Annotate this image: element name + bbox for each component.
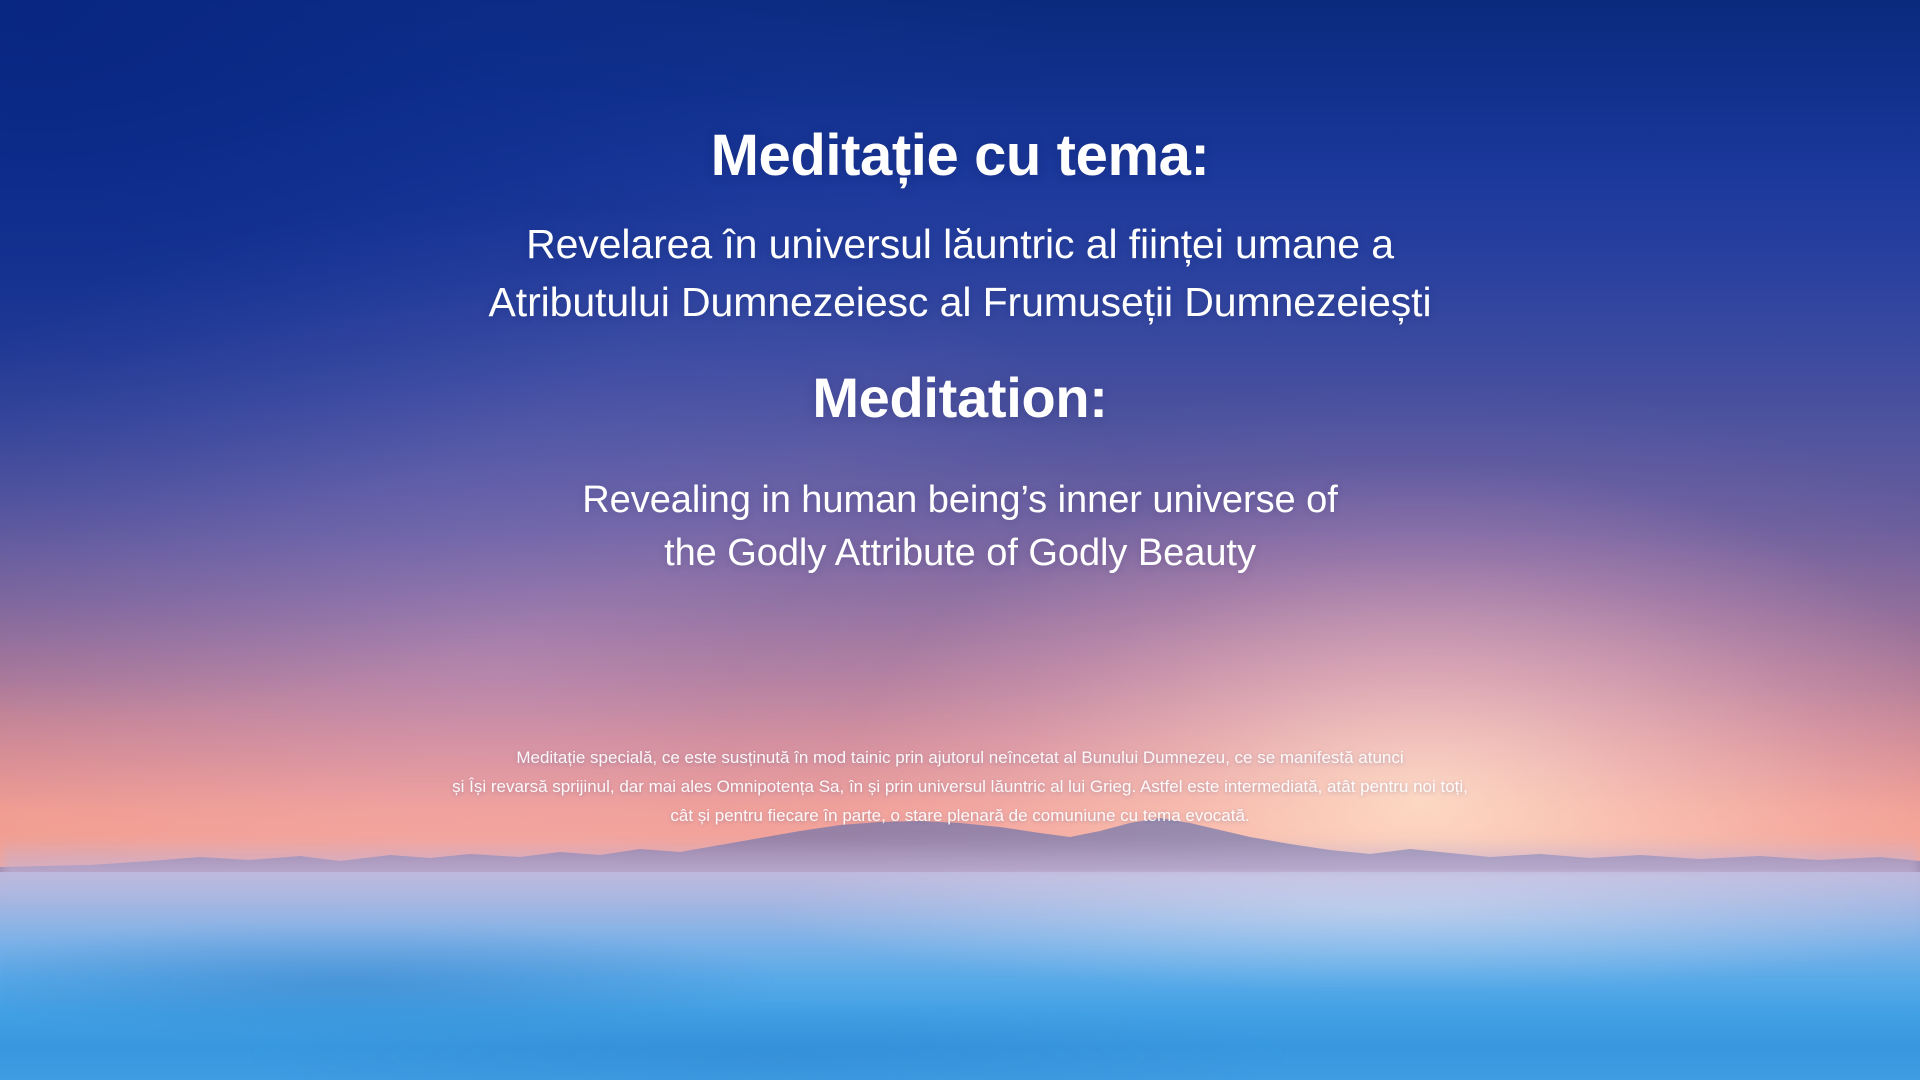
- footer-caption-line-3: cât și pentru fiecare în parte, o stare …: [370, 802, 1550, 831]
- english-title: Meditation:: [0, 368, 1920, 428]
- romanian-title: Meditație cu tema:: [0, 125, 1920, 188]
- footer-caption-line-1: Meditație specială, ce este susținută în…: [370, 744, 1550, 773]
- english-subtitle-line-1: Revealing in human being’s inner univers…: [0, 474, 1920, 527]
- water-reflection-sheen: [0, 872, 1920, 1080]
- footer-caption-line-2: și Își revarsă sprijinul, dar mai ales O…: [370, 773, 1550, 802]
- footer-caption: Meditație specială, ce este susținută în…: [370, 744, 1550, 831]
- romanian-subtitle: Revelarea în universul lăuntric al ființ…: [0, 215, 1920, 331]
- meditation-slide: Meditație cu tema: Revelarea în universu…: [0, 0, 1920, 1080]
- english-subtitle: Revealing in human being’s inner univers…: [0, 474, 1920, 580]
- english-subtitle-line-2: the Godly Attribute of Godly Beauty: [0, 527, 1920, 580]
- romanian-subtitle-line-2: Atributului Dumnezeiesc al Frumuseții Du…: [0, 273, 1920, 331]
- romanian-subtitle-line-1: Revelarea în universul lăuntric al ființ…: [0, 215, 1920, 273]
